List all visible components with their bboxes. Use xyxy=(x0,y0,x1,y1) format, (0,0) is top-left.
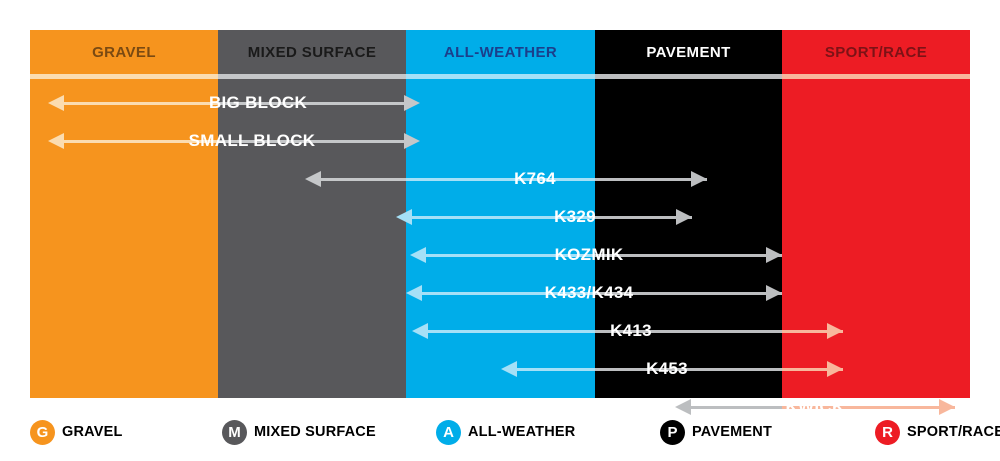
mixed-surface-badge-icon: M xyxy=(222,420,247,445)
legend-label-pavement: PAVEMENT xyxy=(692,424,772,440)
legend-label-mixed-surface: MIXED SURFACE xyxy=(254,424,376,440)
header-label-pavement: PAVEMENT xyxy=(646,44,730,61)
header-cell-mixed-surface: MIXED SURFACE xyxy=(218,30,406,74)
arrow-head-right-big-block xyxy=(404,95,420,111)
arrow-head-left-small-block xyxy=(48,133,64,149)
header-divider-gravel xyxy=(30,74,218,79)
header-divider-sport-race xyxy=(782,74,970,79)
chart-header: GRAVEL MIXED SURFACE ALL-WEATHER PAVEMEN… xyxy=(30,30,970,74)
range-label-kozmik: KOZMIK xyxy=(546,240,633,270)
range-row-k433-k434: K433/K434 xyxy=(30,278,970,308)
legend-label-all-weather: ALL-WEATHER xyxy=(468,424,575,440)
arrow-head-left-k453 xyxy=(501,361,517,377)
arrow-head-right-kozmik xyxy=(766,247,782,263)
range-row-k453: K453 xyxy=(30,354,970,384)
arrow-head-left-kwick xyxy=(675,399,691,415)
range-row-k764: K764 xyxy=(30,164,970,194)
mixed-surface-badge-letter: M xyxy=(228,424,241,441)
all-weather-badge-icon: A xyxy=(436,420,461,445)
pavement-badge-letter: P xyxy=(667,424,677,441)
arrow-head-left-k764 xyxy=(305,171,321,187)
header-divider xyxy=(30,74,970,79)
legend-label-sport-race: SPORT/RACE xyxy=(907,424,1000,440)
header-label-all-weather: ALL-WEATHER xyxy=(444,44,557,61)
arrow-head-right-kwick xyxy=(939,399,955,415)
arrow-shaft-allweather-k764 xyxy=(406,178,595,181)
header-cell-sport-race: SPORT/RACE xyxy=(782,30,970,74)
arrow-head-right-k413 xyxy=(827,323,843,339)
range-label-k764: K764 xyxy=(505,164,565,194)
range-label-kwick: KWICK xyxy=(776,392,853,422)
header-label-sport-race: SPORT/RACE xyxy=(825,44,927,61)
header-divider-pavement xyxy=(595,74,782,79)
gravel-badge-letter: G xyxy=(37,424,49,441)
range-label-k453: K453 xyxy=(637,354,697,384)
header-cell-all-weather: ALL-WEATHER xyxy=(406,30,595,74)
arrow-head-right-k329 xyxy=(676,209,692,225)
sport-race-badge-letter: R xyxy=(882,424,893,441)
pavement-badge-icon: P xyxy=(660,420,685,445)
range-label-big-block: BIG BLOCK xyxy=(200,88,316,118)
range-row-kwick: KWICK xyxy=(30,392,970,422)
arrow-head-left-k413 xyxy=(412,323,428,339)
arrow-head-right-small-block xyxy=(404,133,420,149)
range-row-k413: K413 xyxy=(30,316,970,346)
arrow-shaft-mixed-k764 xyxy=(321,178,406,181)
range-label-small-block: SMALL BLOCK xyxy=(180,126,325,156)
legend-label-gravel: GRAVEL xyxy=(62,424,123,440)
range-row-big-block: BIG BLOCK xyxy=(30,88,970,118)
arrow-shaft-pavement-kwick xyxy=(691,406,782,409)
range-row-k329: K329 xyxy=(30,202,970,232)
header-label-mixed-surface: MIXED SURFACE xyxy=(248,44,377,61)
arrow-head-right-k453 xyxy=(827,361,843,377)
arrow-shaft-allweather-k413 xyxy=(428,330,595,333)
range-row-kozmik: KOZMIK xyxy=(30,240,970,270)
arrow-shaft-allweather-k453 xyxy=(517,368,595,371)
header-label-gravel: GRAVEL xyxy=(92,44,156,61)
sport-race-badge-icon: R xyxy=(875,420,900,445)
header-divider-mixed xyxy=(218,74,406,79)
surface-suitability-chart: GRAVEL MIXED SURFACE ALL-WEATHER PAVEMEN… xyxy=(30,30,970,398)
arrow-head-left-kozmik xyxy=(410,247,426,263)
header-divider-all-weather xyxy=(406,74,595,79)
arrow-head-left-k433-k434 xyxy=(406,285,422,301)
range-label-k433-k434: K433/K434 xyxy=(536,278,643,308)
header-cell-gravel: GRAVEL xyxy=(30,30,218,74)
arrow-shaft-left-big-block xyxy=(64,102,218,105)
arrow-head-right-k433-k434 xyxy=(766,285,782,301)
range-row-small-block: SMALL BLOCK xyxy=(30,126,970,156)
header-cell-pavement: PAVEMENT xyxy=(595,30,782,74)
arrow-head-left-k329 xyxy=(396,209,412,225)
range-label-k413: K413 xyxy=(601,316,661,346)
all-weather-badge-letter: A xyxy=(443,424,454,441)
gravel-badge-icon: G xyxy=(30,420,55,445)
arrow-head-left-big-block xyxy=(48,95,64,111)
arrow-head-right-k764 xyxy=(691,171,707,187)
range-label-k329: K329 xyxy=(545,202,605,232)
